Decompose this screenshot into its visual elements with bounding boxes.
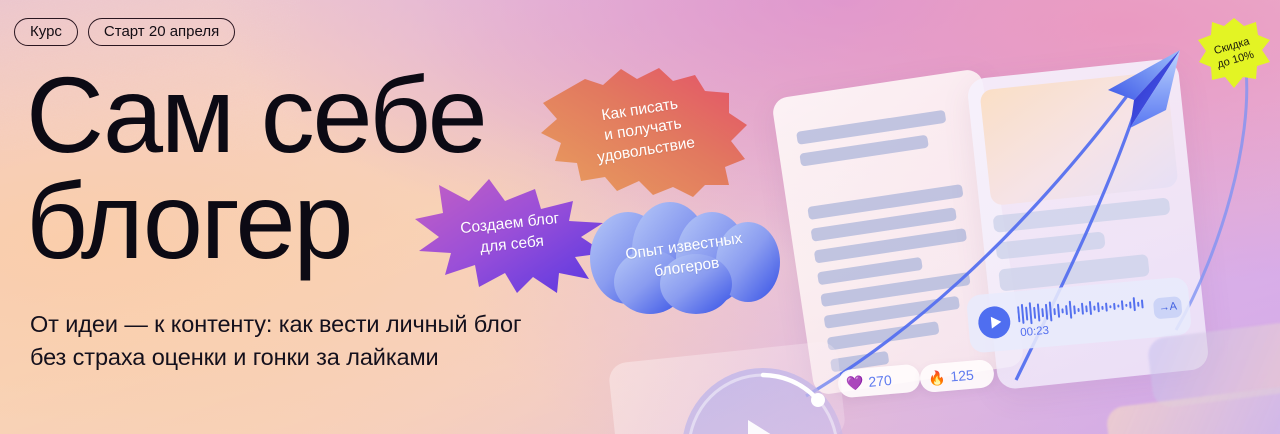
audio-play-button[interactable] <box>977 305 1012 340</box>
course-promo-banner: Курс Старт 20 апреля Сам себе блогер От … <box>0 0 1280 434</box>
reaction-fire-count: 125 <box>950 367 975 385</box>
play-icon <box>990 316 1001 329</box>
sticker-shape-burst <box>1196 16 1272 92</box>
transcribe-button[interactable]: →A <box>1153 296 1183 319</box>
sticker-discount: Скидка до 10% <box>1196 16 1272 92</box>
reaction-heart-count: 270 <box>868 372 893 390</box>
paper-plane-icon <box>1088 44 1198 140</box>
video-play-icon[interactable] <box>748 420 772 434</box>
purple-heart-icon: 💜 <box>846 375 865 390</box>
audio-track: 00:23 <box>1017 291 1148 339</box>
fire-icon: 🔥 <box>928 370 947 385</box>
